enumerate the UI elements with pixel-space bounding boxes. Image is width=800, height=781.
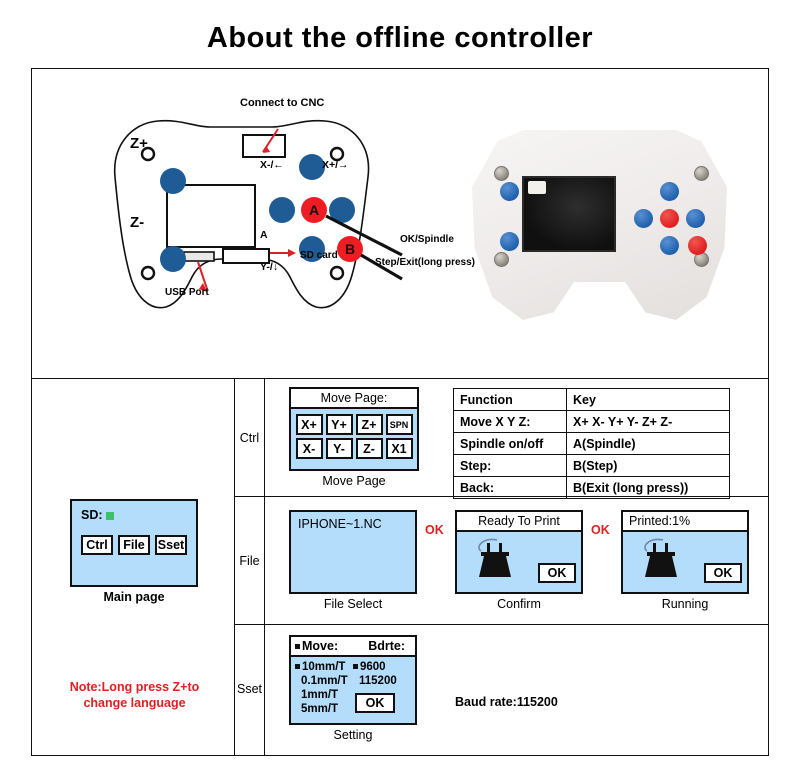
move-option-4[interactable]: 5mm/T [295,702,353,716]
main-page-column: SD: Ctrl File Sset Main page Note:Long p… [32,379,235,755]
screw-bottom-left [494,252,509,267]
th-key: Key [567,389,730,411]
file-name[interactable]: IPHONE~1.NC [298,517,408,531]
th-function: Function [454,389,567,411]
sset-row: Move: Bdrte: 10mm/T 0.1mm/T 1mm/T 5mm/T [265,625,768,753]
callout-usb-port: USB Port [165,287,209,298]
callout-ok-spindle: OK/Spindle [400,234,454,245]
move-option-list: 10mm/T 0.1mm/T 1mm/T 5mm/T [295,660,353,716]
ctrl-key-z-minus[interactable]: Z- [356,438,383,459]
move-page-caption: Move Page [289,474,419,488]
main-btn-sset[interactable]: Sset [155,535,187,555]
printer-icon [639,537,691,583]
function-key-table: Function Key Move X Y Z: X+ X- Y+ Y- Z+ … [453,388,730,499]
ctrl-key-y-plus[interactable]: Y+ [326,414,353,435]
baud-option-list: 9600 115200 OK [353,660,411,716]
running-preview: Printed:1% OK Running [621,510,749,611]
screen-sticker [528,181,546,194]
ctrl-row: Move Page: X+ Y+ Z+ SPN X- Y- [265,379,768,497]
callout-z-minus: Z- [130,214,144,231]
move-option-2[interactable]: 0.1mm/T [295,674,353,688]
confirm-lcd: Ready To Print OK [455,510,583,594]
sd-status: SD: [81,508,187,522]
callout-x-minus: X-/← [260,159,284,171]
callout-x-plus: X+/→ [322,159,349,171]
screens-grid: SD: Ctrl File Sset Main page Note:Long p… [32,379,768,755]
photo-button-x-plus [686,209,705,228]
setting-lcd: Move: Bdrte: 10mm/T 0.1mm/T 1mm/T 5mm/T [289,635,417,725]
fn-step: Step: [454,455,567,477]
baud-option-9600[interactable]: 9600 [353,660,411,674]
table-row: Step: B(Step) [454,455,730,477]
row-label-column: Ctrl File Sset [235,379,265,755]
screw-top-right [694,166,709,181]
table-row: Spindle on/off A(Spindle) [454,433,730,455]
move-header: Move: [295,639,350,653]
photo-button-z-minus [500,232,519,251]
language-note: Note:Long press Z+to change language [42,679,227,711]
move-page-preview: Move Page: X+ Y+ Z+ SPN X- Y- [289,387,419,488]
controller-overview-section: A B Connect to CNC Z+ Z- X-/← X+/→ Y-/↓ … [32,69,768,379]
setting-preview: Move: Bdrte: 10mm/T 0.1mm/T 1mm/T 5mm/T [289,635,417,742]
main-page-caption: Main page [70,590,198,604]
ctrl-key-z-plus[interactable]: Z+ [356,414,383,435]
main-btn-ctrl[interactable]: Ctrl [81,535,113,555]
photo-button-a [660,209,679,228]
ctrl-key-spn[interactable]: SPN [386,414,413,435]
page-title: About the offline controller [0,22,800,55]
file-select-caption: File Select [289,597,417,611]
photo-button-y-minus [660,236,679,255]
row-label-ctrl: Ctrl [235,379,264,497]
controller-photo-screen [522,176,616,252]
row-label-file: File [235,497,264,625]
file-select-lcd: IPHONE~1.NC [289,510,417,594]
confirm-title: Ready To Print [457,512,581,532]
fn-move-xyz: Move X Y Z: [454,411,567,433]
svg-text:B: B [345,241,355,257]
callout-connect-to-cnc: Connect to CNC [240,97,324,109]
confirm-ok-button[interactable]: OK [538,563,576,583]
callout-a-marker: A [260,229,268,241]
screw-top-left [494,166,509,181]
ctrl-key-x-minus[interactable]: X- [296,438,323,459]
setting-ok-button[interactable]: OK [355,693,395,713]
row-label-sset: Sset [235,625,264,753]
setting-headers: Move: Bdrte: [291,637,415,657]
ctrl-key-x-plus[interactable]: X+ [296,414,323,435]
baud-rate-text: Baud rate:115200 [455,695,558,709]
ctrl-key-y-minus[interactable]: Y- [326,438,353,459]
svg-text:A: A [309,202,319,218]
content-frame: A B Connect to CNC Z+ Z- X-/← X+/→ Y-/↓ … [31,68,769,756]
transition-ok-2: OK [591,523,610,537]
fn-spindle: Spindle on/off [454,433,567,455]
callout-sd-card: SD card [300,250,338,261]
running-lcd: Printed:1% OK [621,510,749,594]
file-row: IPHONE~1.NC File Select OK Ready To Prin… [265,497,768,625]
callout-y-minus: Y-/↓ [260,261,278,273]
note-line-2: change language [42,695,227,711]
sd-label: SD: [81,508,103,522]
key-move-xyz: X+ X- Y+ Y- Z+ Z- [567,411,730,433]
table-row: Back: B(Exit (long press)) [454,477,730,499]
photo-button-z-plus [500,182,519,201]
fn-back: Back: [454,477,567,499]
function-table-body: Function Key Move X Y Z: X+ X- Y+ Y- Z+ … [454,389,730,499]
photo-button-x-minus [634,209,653,228]
move-page-lcd: Move Page: X+ Y+ Z+ SPN X- Y- [289,387,419,471]
bdrte-header: Bdrte: [350,639,411,653]
callout-z-plus: Z+ [130,135,148,152]
key-spindle: A(Spindle) [567,433,730,455]
printer-icon [473,537,525,583]
rows-column: Ctrl File Sset Move Page: X+ Y+ Z+ SPN [235,379,768,755]
setting-caption: Setting [289,728,417,742]
baud-option-115200[interactable]: 115200 [353,674,411,688]
note-line-1: Note:Long press Z+to [42,679,227,695]
move-option-selected[interactable]: 10mm/T [295,660,353,674]
controller-line-diagram: A B [60,97,420,347]
confirm-caption: Confirm [455,597,583,611]
running-progress: Printed:1% [623,512,747,532]
file-select-preview: IPHONE~1.NC File Select [289,510,417,611]
main-btn-file[interactable]: File [118,535,150,555]
move-page-title: Move Page: [291,389,417,409]
photo-button-b [688,236,707,255]
main-page-lcd: SD: Ctrl File Sset [70,499,198,587]
table-row: Move X Y Z: X+ X- Y+ Y- Z+ Z- [454,411,730,433]
transition-ok-1: OK [425,523,444,537]
sd-present-indicator [106,512,114,520]
key-step: B(Step) [567,455,730,477]
running-caption: Running [621,597,749,611]
table-header-row: Function Key [454,389,730,411]
ctrl-key-x1[interactable]: X1 [386,438,413,459]
main-page-preview: SD: Ctrl File Sset Main page [70,499,198,604]
running-ok-button[interactable]: OK [704,563,742,583]
photo-button-y-plus [660,182,679,201]
controller-photo [452,124,752,334]
confirm-preview: Ready To Print OK Confir [455,510,583,611]
move-option-3[interactable]: 1mm/T [295,688,353,702]
key-back: B(Exit (long press)) [567,477,730,499]
